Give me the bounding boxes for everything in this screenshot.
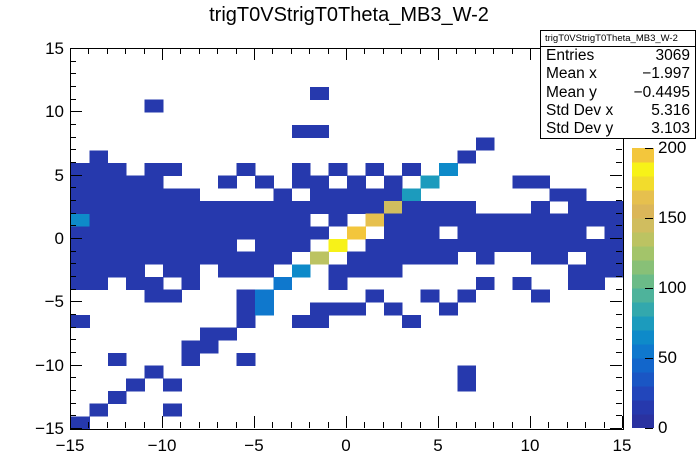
heatmap-cell [292, 201, 311, 214]
x-tick-minor [475, 422, 476, 428]
x-tick-minor [512, 422, 513, 428]
x-tick-minor-top [125, 48, 126, 54]
heatmap-cell [476, 138, 495, 151]
heatmap-cell [586, 214, 605, 227]
y-tick-minor [70, 162, 76, 163]
heatmap-cell [457, 214, 476, 227]
heatmap-cell [568, 277, 587, 290]
heatmap-cell [531, 214, 550, 227]
heatmap-cell [310, 302, 329, 315]
heatmap-cell [89, 264, 108, 277]
heatmap-cell [494, 214, 513, 227]
heatmap-cell [513, 277, 532, 290]
heatmap-cell [310, 176, 329, 189]
heatmap-cell [218, 239, 237, 252]
heatmap-cell [384, 176, 403, 189]
heatmap-cell [439, 302, 458, 315]
x-tick-minor-top [364, 48, 365, 54]
statistics-value: 3069 [656, 47, 690, 65]
heatmap-cell [145, 239, 164, 252]
y-tick-minor [70, 276, 76, 277]
heatmap-cell [181, 340, 200, 353]
y-tick-minor [70, 289, 76, 290]
y-tick-major-right [610, 238, 622, 239]
x-tick-minor [217, 422, 218, 428]
heatmap-cell [402, 163, 421, 176]
heatmap-cell [531, 176, 550, 189]
statistics-value: 5.316 [651, 102, 690, 120]
statistics-row: Std Dev y3.103 [541, 120, 695, 138]
heatmap-cell [586, 201, 605, 214]
x-tick-minor-top [512, 48, 513, 54]
heatmap-cell [200, 239, 219, 252]
heatmap-cell [365, 290, 384, 303]
y-tick-minor-right [616, 377, 622, 378]
statistics-row: Std Dev x5.316 [541, 102, 695, 120]
x-tick-major-top [530, 48, 531, 60]
y-tick-minor-right [616, 213, 622, 214]
color-bar-swatch [632, 386, 654, 401]
heatmap-cell [365, 188, 384, 201]
heatmap-cell [457, 150, 476, 163]
heatmap-cell [218, 201, 237, 214]
statistics-key: Std Dev x [546, 102, 613, 120]
y-tick-minor [70, 403, 76, 404]
heatmap-cell [402, 239, 421, 252]
heatmap-cell [292, 176, 311, 189]
heatmap-cell [89, 201, 108, 214]
heatmap-cell [439, 214, 458, 227]
heatmap-cell [476, 214, 495, 227]
x-tick-minor [585, 422, 586, 428]
statistics-key: Std Dev y [546, 120, 613, 138]
heatmap-cell [181, 264, 200, 277]
heatmap-cell [126, 176, 145, 189]
x-tick-minor [567, 422, 568, 428]
heatmap-cell [145, 214, 164, 227]
heatmap-cell [365, 201, 384, 214]
x-tick-minor-top [401, 48, 402, 54]
y-axis-tick-label: −10 [16, 356, 64, 376]
color-bar-swatch [632, 246, 654, 261]
heatmap-cell [347, 302, 366, 315]
y-axis-tick-label: 10 [16, 102, 64, 122]
heatmap-cell [181, 214, 200, 227]
heatmap-cell [163, 201, 182, 214]
color-bar-swatch [632, 288, 654, 303]
color-bar-tick-label: 0 [658, 418, 667, 438]
heatmap-cell [218, 264, 237, 277]
heatmap-cell [421, 176, 440, 189]
heatmap-cell [126, 277, 145, 290]
heatmap-cell [531, 239, 550, 252]
y-tick-minor [70, 352, 76, 353]
color-bar-swatch [632, 414, 654, 428]
color-bar-tick-label: 200 [658, 138, 686, 158]
color-bar-swatch [632, 176, 654, 191]
heatmap-cell [181, 226, 200, 239]
heatmap-cell [549, 188, 568, 201]
heatmap-cell [200, 252, 219, 265]
color-bar-tick [645, 148, 653, 149]
heatmap-cell [402, 201, 421, 214]
heatmap-cell [145, 226, 164, 239]
color-bar-swatch [632, 162, 654, 177]
x-tick-minor-top [291, 48, 292, 54]
heatmap-cell [402, 188, 421, 201]
heatmap-cell [549, 226, 568, 239]
heatmap-cell [145, 176, 164, 189]
color-bar-swatch [632, 204, 654, 219]
y-tick-major-right [610, 301, 622, 302]
x-axis-tick-label: 10 [506, 436, 554, 456]
heatmap-cell [494, 226, 513, 239]
heatmap-cell [384, 302, 403, 315]
heatmap-cell [457, 201, 476, 214]
x-tick-major-top [346, 48, 347, 60]
heatmap-cell [200, 214, 219, 227]
heatmap-cell [457, 366, 476, 379]
heatmap-cell [163, 404, 182, 417]
heatmap-cell [549, 252, 568, 265]
x-axis-tick-label: 0 [322, 436, 370, 456]
y-tick-major-right [610, 175, 622, 176]
heatmap-cell [237, 201, 256, 214]
y-tick-minor [70, 314, 76, 315]
x-tick-minor [236, 422, 237, 428]
heatmap-cell [310, 87, 329, 100]
heatmap-cell [181, 188, 200, 201]
heatmap-cell [108, 391, 127, 404]
x-tick-minor [420, 422, 421, 428]
heatmap-cell [126, 188, 145, 201]
statistics-key: Mean y [546, 84, 597, 102]
heatmap-cell [310, 125, 329, 138]
x-tick-minor-top [493, 48, 494, 54]
x-tick-minor-top [272, 48, 273, 54]
y-tick-major [70, 365, 82, 366]
heatmap-cell [108, 264, 127, 277]
heatmap-cell [273, 214, 292, 227]
x-tick-minor [180, 422, 181, 428]
heatmap-cell [292, 239, 311, 252]
y-tick-minor [70, 327, 76, 328]
heatmap-cell [237, 302, 256, 315]
color-bar-swatch [632, 400, 654, 415]
x-tick-major [438, 416, 439, 428]
heatmap-cell [108, 176, 127, 189]
x-tick-minor [493, 422, 494, 428]
heatmap-cell [108, 252, 127, 265]
heatmap-cell [145, 100, 164, 113]
heatmap-cell [421, 239, 440, 252]
color-bar-swatch [632, 358, 654, 373]
x-tick-minor-top [144, 48, 145, 54]
heatmap-cell [273, 188, 292, 201]
y-tick-minor-right [616, 187, 622, 188]
heatmap-cell [255, 252, 274, 265]
x-axis-tick-label: −5 [230, 436, 278, 456]
heatmap-cell [89, 226, 108, 239]
heatmap-cell [181, 239, 200, 252]
x-tick-minor-top [383, 48, 384, 54]
x-tick-minor [548, 422, 549, 428]
x-tick-minor [456, 422, 457, 428]
heatmap-cell [126, 226, 145, 239]
y-tick-minor [70, 86, 76, 87]
heatmap-cell [255, 176, 274, 189]
x-tick-minor [604, 422, 605, 428]
y-tick-minor [70, 200, 76, 201]
heatmap-cell [347, 176, 366, 189]
heatmap-cell [163, 290, 182, 303]
y-tick-major [70, 238, 82, 239]
heatmap-cell [89, 150, 108, 163]
y-tick-minor-right [616, 314, 622, 315]
x-tick-minor [364, 422, 365, 428]
heatmap-cell [494, 239, 513, 252]
y-tick-major [70, 111, 82, 112]
heatmap-cell [457, 290, 476, 303]
heatmap-cell [255, 239, 274, 252]
statistics-row: Entries3069 [541, 47, 695, 65]
heatmap-cell [126, 378, 145, 391]
heatmap-cell [586, 239, 605, 252]
heatmap-cell [163, 378, 182, 391]
x-tick-minor-top [420, 48, 421, 54]
heatmap-cell [89, 176, 108, 189]
heatmap-cell [126, 201, 145, 214]
heatmap-cell [292, 125, 311, 138]
statistics-row: Mean x−1.997 [541, 65, 695, 83]
heatmap-cell [476, 239, 495, 252]
heatmap-cell [329, 264, 348, 277]
x-tick-minor [383, 422, 384, 428]
heatmap-cell [181, 277, 200, 290]
heatmap-cell [329, 201, 348, 214]
heatmap-cell [476, 226, 495, 239]
heatmap-cell [145, 277, 164, 290]
heatmap-cell [347, 188, 366, 201]
heatmap-cell [163, 252, 182, 265]
heatmap-cell [347, 201, 366, 214]
heatmap-cell [531, 226, 550, 239]
color-bar-swatch [632, 274, 654, 289]
heatmap-cell [568, 239, 587, 252]
heatmap-cell [513, 226, 532, 239]
x-tick-major-top [438, 48, 439, 60]
heatmap-cell [237, 226, 256, 239]
heatmap-cell [384, 201, 403, 214]
heatmap-cell [568, 201, 587, 214]
heatmap-cell [145, 201, 164, 214]
heatmap-cell [402, 214, 421, 227]
heatmap-cell [586, 277, 605, 290]
heatmap-cell [365, 163, 384, 176]
heatmap-cell [310, 226, 329, 239]
y-tick-minor [70, 124, 76, 125]
heatmap-cell [384, 239, 403, 252]
heatmap-cell [237, 290, 256, 303]
heatmap-cell [181, 353, 200, 366]
heatmap-cell [329, 239, 348, 252]
heatmap-cell [108, 188, 127, 201]
heatmap-cell [145, 252, 164, 265]
heatmap-cell [108, 239, 127, 252]
heatmap-cell [181, 252, 200, 265]
heatmap-cell [200, 226, 219, 239]
heatmap-cell [292, 214, 311, 227]
x-tick-minor-top [328, 48, 329, 54]
color-bar-tick [645, 218, 653, 219]
heatmap-cell [347, 252, 366, 265]
y-tick-minor-right [616, 225, 622, 226]
heatmap-cell [439, 201, 458, 214]
heatmap-cell [108, 353, 127, 366]
heatmap-cell [365, 252, 384, 265]
heatmap-cell [126, 214, 145, 227]
statistics-value: 3.103 [651, 120, 690, 138]
x-tick-minor [291, 422, 292, 428]
heatmap-cell [365, 214, 384, 227]
color-bar-swatch [632, 302, 654, 317]
heatmap-cell [181, 201, 200, 214]
heatmap-cell [145, 188, 164, 201]
statistics-key: Entries [546, 47, 594, 65]
heatmap-cell [273, 252, 292, 265]
color-bar-tick [645, 428, 653, 429]
y-tick-minor [70, 263, 76, 264]
y-axis-tick-label: 15 [16, 39, 64, 59]
statistics-row: Mean y−0.4495 [541, 84, 695, 102]
heatmap-cell [329, 188, 348, 201]
y-tick-minor-right [616, 200, 622, 201]
y-axis-tick-label: −5 [16, 292, 64, 312]
heatmap-cell [108, 163, 127, 176]
heatmap-cell [145, 290, 164, 303]
x-tick-minor [144, 422, 145, 428]
heatmap-cell [365, 264, 384, 277]
statistics-rows: Entries3069Mean x−1.997Mean y−0.4495Std … [541, 47, 695, 138]
heatmap-cell [145, 366, 164, 379]
heatmap-cell [421, 201, 440, 214]
y-tick-minor-right [616, 289, 622, 290]
heatmap-cell [384, 214, 403, 227]
heatmap-cell [421, 252, 440, 265]
x-tick-major [346, 416, 347, 428]
color-bar-swatch [632, 190, 654, 205]
y-tick-major [70, 48, 82, 49]
x-tick-minor-top [217, 48, 218, 54]
x-tick-minor-top [475, 48, 476, 54]
heatmap-cell [126, 239, 145, 252]
heatmap-cell [145, 163, 164, 176]
heatmap-cell [292, 226, 311, 239]
heatmap-cell [310, 188, 329, 201]
x-axis-tick-label: −10 [138, 436, 186, 456]
statistics-key: Mean x [546, 65, 597, 83]
heatmap-cell [237, 214, 256, 227]
heatmap-cell [89, 252, 108, 265]
x-tick-major [70, 416, 71, 428]
y-tick-minor-right [616, 276, 622, 277]
heatmap-cell [89, 163, 108, 176]
heatmap-cell [457, 226, 476, 239]
heatmap-cell [568, 226, 587, 239]
y-axis-tick-label: 0 [16, 229, 64, 249]
heatmap-cell [163, 188, 182, 201]
heatmap-cell [568, 188, 587, 201]
heatmap-cell [513, 239, 532, 252]
color-bar-tick-label: 100 [658, 278, 686, 298]
heatmap-cell [568, 214, 587, 227]
x-tick-minor-top [180, 48, 181, 54]
heatmap-cell [292, 315, 311, 328]
heatmap-cell [384, 264, 403, 277]
heatmap-cell [531, 290, 550, 303]
heatmap-cell [108, 201, 127, 214]
heatmap-cell [163, 239, 182, 252]
y-tick-minor [70, 390, 76, 391]
heatmap-cell [237, 163, 256, 176]
heatmap-cell [218, 252, 237, 265]
x-tick-major-top [254, 48, 255, 60]
y-tick-minor-right [616, 251, 622, 252]
x-tick-minor-top [199, 48, 200, 54]
color-bar-swatch [632, 330, 654, 345]
y-tick-minor-right [616, 403, 622, 404]
root-canvas: trigT0VStrigT0Theta_MB3_W-2 −15−10−50510… [0, 0, 698, 476]
color-bar-swatch [632, 372, 654, 387]
x-tick-major-top [70, 48, 71, 60]
heatmap-cell [439, 252, 458, 265]
heatmap-cell [200, 328, 219, 341]
heatmap-cell [89, 277, 108, 290]
x-tick-major-top [162, 48, 163, 60]
y-tick-minor-right [616, 390, 622, 391]
x-axis-tick-label: 15 [598, 436, 646, 456]
heatmap-cell [292, 163, 311, 176]
heatmap-cell [586, 264, 605, 277]
heatmap-cell [218, 176, 237, 189]
heatmap-cell [218, 214, 237, 227]
x-tick-minor [125, 422, 126, 428]
y-tick-minor-right [616, 339, 622, 340]
statistics-box[interactable]: trigT0VStrigT0Theta_MB3_W-2 Entries3069M… [540, 30, 696, 139]
heatmap-cell [255, 302, 274, 315]
y-tick-major-right [610, 365, 622, 366]
heatmap-cell [347, 264, 366, 277]
color-bar-tick [645, 358, 653, 359]
heatmap-cell [329, 214, 348, 227]
y-tick-minor [70, 137, 76, 138]
heatmap-cell [402, 252, 421, 265]
heatmap-cell [126, 264, 145, 277]
heatmap-cell [531, 252, 550, 265]
heatmap-cell [549, 214, 568, 227]
x-axis-tick-label: −15 [46, 436, 94, 456]
heatmap-cell [421, 290, 440, 303]
x-tick-minor [309, 422, 310, 428]
heatmap-cell [237, 264, 256, 277]
heatmap-cell [108, 226, 127, 239]
heatmap-cell [89, 404, 108, 417]
heatmap-cell [402, 226, 421, 239]
x-tick-minor-top [107, 48, 108, 54]
heatmap-cell [347, 226, 366, 239]
heatmap-cell [310, 252, 329, 265]
y-tick-minor [70, 149, 76, 150]
